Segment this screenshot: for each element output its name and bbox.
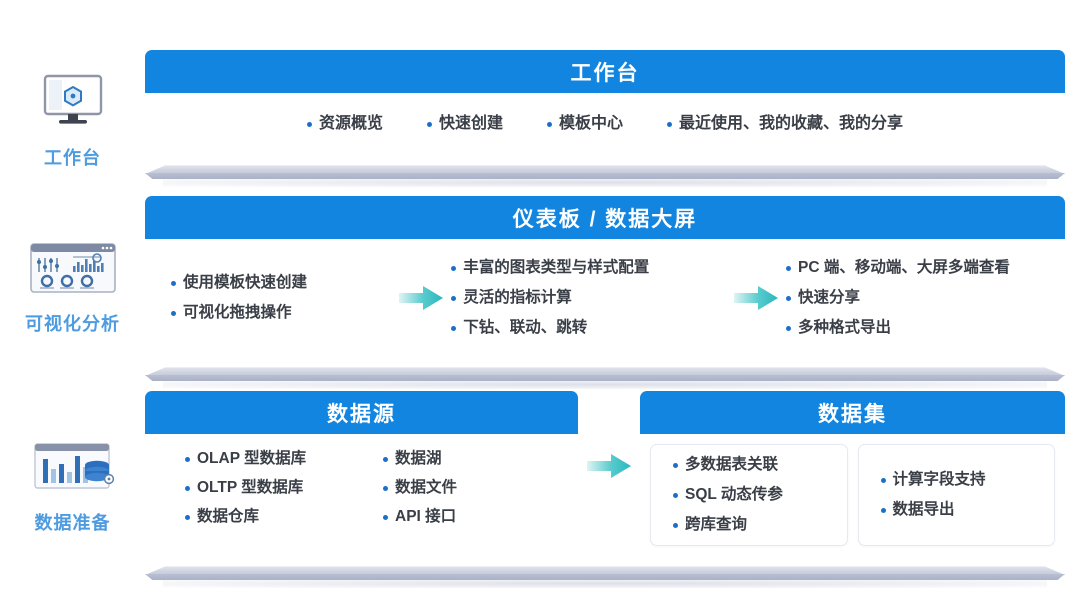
bullet-dot-icon xyxy=(383,515,388,520)
dataset-body: 多数据表关联 SQL 动态传参 跨库查询 xyxy=(640,434,1065,556)
list-item[interactable]: 数据湖 xyxy=(383,448,457,470)
datasource-panel: 数据源 OLAP 型数据库 OLTP 型数据库 xyxy=(145,391,578,556)
bullet-dot-icon xyxy=(881,478,886,483)
arrow-right-icon xyxy=(587,451,631,481)
list-item[interactable]: 多数据表关联 xyxy=(673,454,847,476)
bullet-dot-icon xyxy=(383,457,388,462)
flow-arrow-2 xyxy=(726,283,786,313)
bullet-dot-icon xyxy=(383,486,388,491)
bar-chart-database-icon xyxy=(0,437,145,499)
list-item[interactable]: 下钻、联动、跳转 xyxy=(451,317,725,339)
list-item[interactable]: 跨库查询 xyxy=(673,514,847,536)
list-item[interactable]: 多种格式导出 xyxy=(786,317,1039,339)
monitor-hexagon-icon xyxy=(0,72,145,134)
rail-label-visual-analysis: 可视化分析 xyxy=(0,310,145,336)
bullet-dot-icon xyxy=(547,122,552,127)
bullet-dot-icon xyxy=(673,493,678,498)
shelf-platform xyxy=(145,556,1065,582)
shelf-platform xyxy=(145,155,1065,181)
workbench-title: 工作台 xyxy=(145,50,1065,93)
dashboard-column-chart: 丰富的图表类型与样式配置 灵活的指标计算 下钻、联动、跳转 xyxy=(451,257,725,339)
list-item[interactable]: 灵活的指标计算 xyxy=(451,287,725,309)
bullet-dot-icon xyxy=(673,523,678,528)
bullet-dot-icon xyxy=(185,515,190,520)
bullet-dot-icon xyxy=(185,457,190,462)
datasource-body: OLAP 型数据库 OLTP 型数据库 数据仓库 xyxy=(145,434,578,556)
workbench-panel: 工作台 资源概览 快速创建 模板中心 xyxy=(145,50,1065,155)
flow-arrow-1 xyxy=(391,283,451,313)
rail-item-visual-analysis[interactable]: 可视化分析 xyxy=(0,238,145,336)
dashboard-window-icon xyxy=(0,238,145,300)
data-row: 数据源 OLAP 型数据库 OLTP 型数据库 xyxy=(145,391,1065,582)
rail-item-workbench[interactable]: 工作台 xyxy=(0,72,145,170)
arrow-right-icon xyxy=(399,283,443,313)
list-item[interactable]: 模板中心 xyxy=(547,113,623,135)
flow-arrow-3 xyxy=(578,391,640,541)
list-item[interactable]: 可视化拖拽操作 xyxy=(171,302,391,324)
list-item[interactable]: 丰富的图表类型与样式配置 xyxy=(451,257,725,279)
dashboard-row: 仪表板 / 数据大屏 使用模板快速创建 可视化拖拽操作 xyxy=(145,196,1065,383)
list-item[interactable]: 计算字段支持 xyxy=(881,469,1055,491)
bullet-dot-icon xyxy=(451,296,456,301)
dataset-title: 数据集 xyxy=(640,391,1065,434)
list-item[interactable]: 快速分享 xyxy=(786,287,1039,309)
rail-label-workbench: 工作台 xyxy=(0,144,145,170)
dashboard-column-share: PC 端、移动端、大屏多端查看 快速分享 多种格式导出 xyxy=(786,257,1039,339)
dataset-panel: 数据集 多数据表关联 SQL 动态传参 xyxy=(640,391,1065,556)
datasource-column-db: OLAP 型数据库 OLTP 型数据库 数据仓库 xyxy=(185,448,383,556)
dataset-card-field[interactable]: 计算字段支持 数据导出 xyxy=(858,444,1056,546)
rail-label-data-preparation: 数据准备 xyxy=(0,509,145,535)
list-item[interactable]: 数据导出 xyxy=(881,499,1055,521)
list-item[interactable]: OLAP 型数据库 xyxy=(185,448,383,470)
list-item[interactable]: 数据文件 xyxy=(383,477,457,499)
arrow-right-icon xyxy=(734,283,778,313)
workbench-body: 资源概览 快速创建 模板中心 最近使用、我的收藏、我的分享 xyxy=(145,93,1065,155)
stage-rail: 工作台 xyxy=(0,0,145,608)
workbench-bullet-list: 资源概览 快速创建 模板中心 最近使用、我的收藏、我的分享 xyxy=(145,93,1065,155)
bullet-dot-icon xyxy=(185,486,190,491)
diagram-canvas: 工作台 xyxy=(0,0,1080,608)
bullet-dot-icon xyxy=(786,296,791,301)
bullet-dot-icon xyxy=(307,122,312,127)
bullet-dot-icon xyxy=(786,326,791,331)
datasource-title: 数据源 xyxy=(145,391,578,434)
bullet-dot-icon xyxy=(881,508,886,513)
list-item[interactable]: 使用模板快速创建 xyxy=(171,272,391,294)
dashboard-body: 使用模板快速创建 可视化拖拽操作 xyxy=(145,239,1065,357)
dashboard-panel: 仪表板 / 数据大屏 使用模板快速创建 可视化拖拽操作 xyxy=(145,196,1065,357)
list-item[interactable]: 数据仓库 xyxy=(185,506,383,528)
shelf-platform xyxy=(145,357,1065,383)
bullet-dot-icon xyxy=(171,281,176,286)
list-item[interactable]: SQL 动态传参 xyxy=(673,484,847,506)
bullet-dot-icon xyxy=(673,463,678,468)
dashboard-column-create: 使用模板快速创建 可视化拖拽操作 xyxy=(171,272,391,324)
bullet-dot-icon xyxy=(786,266,791,271)
list-item[interactable]: OLTP 型数据库 xyxy=(185,477,383,499)
bullet-dot-icon xyxy=(427,122,432,127)
list-item[interactable]: 资源概览 xyxy=(307,113,383,135)
workbench-row: 工作台 资源概览 快速创建 模板中心 xyxy=(145,50,1065,181)
rail-item-data-preparation[interactable]: 数据准备 xyxy=(0,437,145,535)
dashboard-title: 仪表板 / 数据大屏 xyxy=(145,196,1065,239)
list-item[interactable]: 快速创建 xyxy=(427,113,503,135)
bullet-dot-icon xyxy=(451,266,456,271)
datasource-column-file: 数据湖 数据文件 API 接口 xyxy=(383,448,457,556)
bullet-dot-icon xyxy=(667,122,672,127)
bullet-dot-icon xyxy=(451,326,456,331)
list-item[interactable]: 最近使用、我的收藏、我的分享 xyxy=(667,113,903,135)
list-item[interactable]: API 接口 xyxy=(383,506,457,528)
list-item[interactable]: PC 端、移动端、大屏多端查看 xyxy=(786,257,1039,279)
dataset-card-query[interactable]: 多数据表关联 SQL 动态传参 跨库查询 xyxy=(650,444,848,546)
bullet-dot-icon xyxy=(171,311,176,316)
